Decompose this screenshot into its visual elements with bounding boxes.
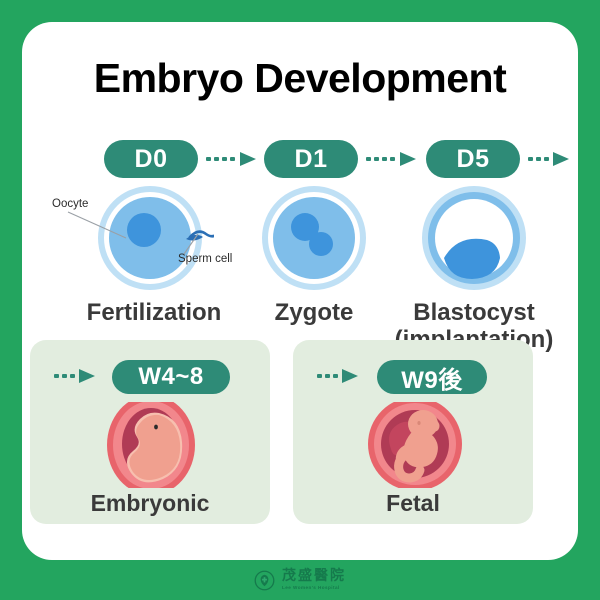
- footer-logo[interactable]: 茂盛醫院 Lee Women's Hospital: [0, 564, 600, 596]
- dotted-arrow-right-icon: [528, 152, 572, 166]
- caption-line: Fertilization: [64, 300, 244, 327]
- stage-figures-row: Oocyte Sperm cell: [22, 182, 578, 302]
- stage-badge-d5[interactable]: D5: [426, 140, 520, 178]
- infographic-root: Embryo Development D0 D1: [0, 0, 600, 600]
- stage-caption-fertilization: Fertilization: [64, 300, 244, 327]
- fetus-in-sac-icon: [293, 402, 533, 488]
- logo-text-block: 茂盛醫院 Lee Women's Hospital: [282, 569, 346, 590]
- annotation-leader-lines: [22, 182, 272, 302]
- panel-fetal[interactable]: W9後: [293, 340, 533, 524]
- panel-embryonic[interactable]: W4~8 Embryonic: [30, 340, 270, 524]
- dotted-arrow-right-icon: [54, 369, 100, 383]
- dotted-arrow-right-icon: [206, 152, 264, 166]
- timeline-badge-row: D0 D1: [22, 140, 578, 180]
- zygote-two-pronuclei-icon: [254, 182, 374, 298]
- page-title: Embryo Development: [22, 58, 578, 99]
- panel-label-fetal: Fetal: [293, 492, 533, 515]
- panel-badge-w9[interactable]: W9後: [377, 360, 487, 394]
- embryo-in-sac-icon: [30, 402, 270, 488]
- hospital-circle-logo-icon: [254, 570, 275, 591]
- panel-label-embryonic: Embryonic: [30, 492, 270, 515]
- logo-name-cn: 茂盛醫院: [282, 569, 346, 583]
- caption-line: Blastocyst: [374, 300, 574, 327]
- dotted-arrow-right-icon: [317, 369, 363, 383]
- panel-badge-w4-8[interactable]: W4~8: [112, 360, 230, 394]
- stage-badge-d1[interactable]: D1: [264, 140, 358, 178]
- logo-name-en: Lee Women's Hospital: [282, 586, 346, 591]
- dotted-arrow-right-icon: [366, 152, 424, 166]
- blastocyst-icon: [414, 182, 534, 298]
- stage-badge-d0[interactable]: D0: [104, 140, 198, 178]
